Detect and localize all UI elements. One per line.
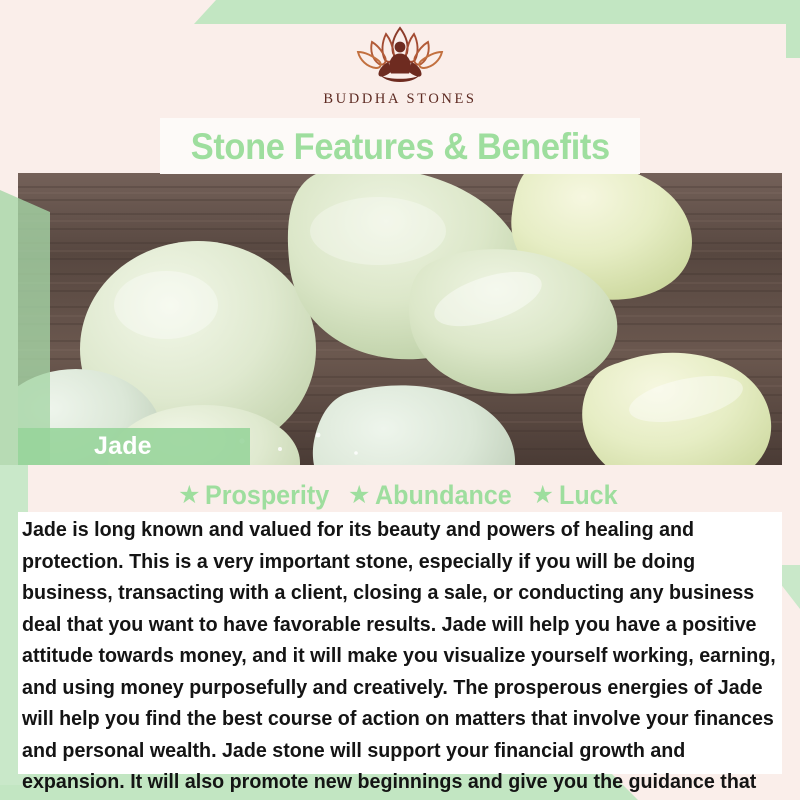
benefit-item-prosperity: ★ Prosperity: [178, 480, 339, 511]
stone-name-label: Jade: [94, 432, 152, 461]
benefit-item-abundance: ★ Abundance: [348, 480, 522, 511]
benefits-row: ★ Prosperity ★ Abundance ★ Luck: [0, 478, 800, 512]
decor-top-right-band: [0, 0, 800, 24]
benefit-label: Abundance: [375, 480, 512, 511]
page-title: Stone Features & Benefits: [190, 128, 609, 165]
benefit-label: Prosperity: [205, 480, 329, 511]
star-icon: ★: [178, 483, 200, 508]
title-banner: Stone Features & Benefits: [160, 118, 640, 174]
brand-logo: BUDDHA STONES: [0, 22, 800, 114]
description-text: Jade is long known and valued for its be…: [22, 514, 781, 800]
benefit-label: Luck: [559, 480, 618, 511]
stone-photo: [18, 173, 782, 465]
benefit-item-luck: ★ Luck: [531, 480, 621, 511]
stone-photo-image: [18, 173, 782, 465]
description-card: Jade is long known and valued for its be…: [18, 512, 782, 774]
stone-name-badge: Jade: [18, 428, 250, 465]
star-icon: ★: [348, 483, 370, 508]
brand-name: BUDDHA STONES: [323, 91, 476, 108]
decor-left-photo-strip: [0, 190, 50, 465]
poster-root: BUDDHA STONES Stone Features & Benefits: [0, 0, 800, 800]
lotus-meditation-icon: [336, 22, 464, 86]
star-icon: ★: [531, 483, 553, 508]
